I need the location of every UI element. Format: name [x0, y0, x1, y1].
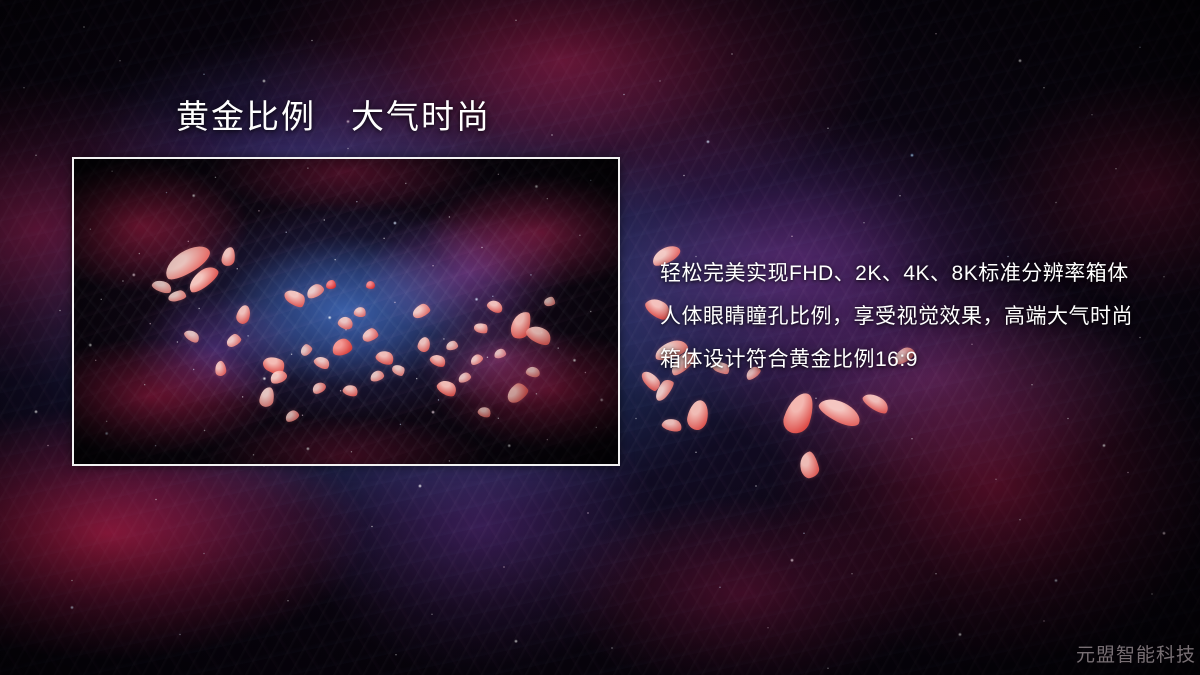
description-line-1: 轻松完美实现FHD、2K、4K、8K标准分辨率箱体 [660, 252, 1160, 295]
flower-petal [661, 416, 684, 433]
flower-petal [816, 393, 864, 430]
flower-petal [797, 450, 821, 480]
flower-petal [860, 389, 891, 416]
feature-description-block: 轻松完美实现FHD、2K、4K、8K标准分辨率箱体 人体眼睛瞳孔比例，享受视觉效… [660, 252, 1160, 381]
company-watermark: 元盟智能科技 [1076, 640, 1196, 667]
description-line-3: 箱体设计符合黄金比例16:9 [660, 338, 1160, 381]
slide-canvas: 黄金比例 大气时尚 轻松完美实现FHD、2K、4K、8K标准分辨率箱体 人体眼睛… [0, 0, 1200, 675]
description-line-2: 人体眼睛瞳孔比例，享受视觉效果，高端大气时尚 [660, 295, 1160, 338]
panel-vignette [74, 159, 618, 464]
page-title: 黄金比例 大气时尚 [176, 99, 491, 135]
display-panel-frame[interactable] [72, 157, 620, 466]
flower-petal [685, 398, 711, 432]
display-panel-content [74, 159, 618, 464]
flower-petal [780, 389, 818, 437]
